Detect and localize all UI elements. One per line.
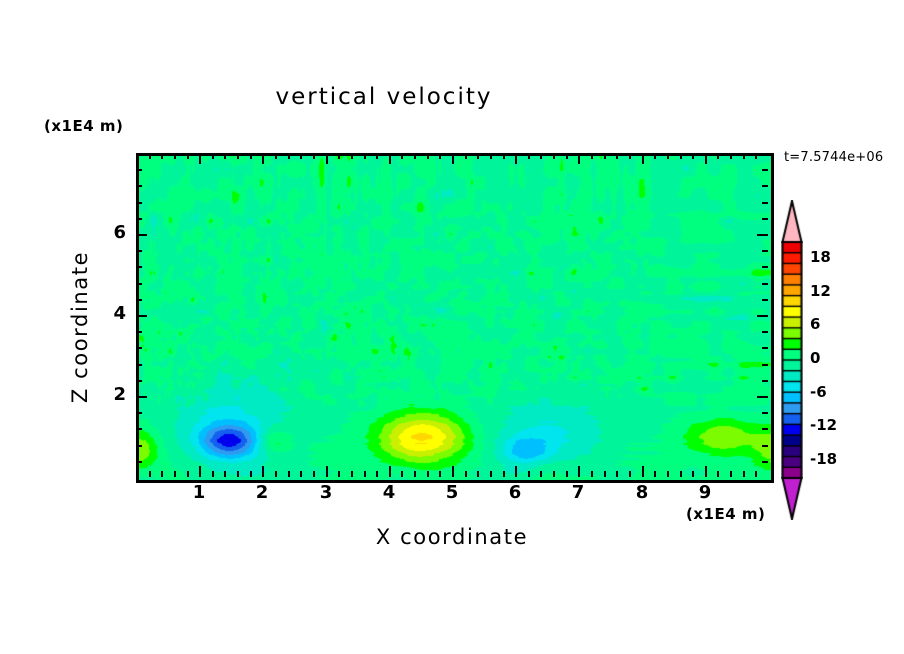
x-tick-minor xyxy=(174,471,176,477)
x-tick-minor xyxy=(174,153,176,159)
x-tick-minor xyxy=(490,471,492,477)
x-tick-minor xyxy=(743,471,745,477)
x-tick-minor xyxy=(364,153,366,159)
x-tick-minor xyxy=(313,471,315,477)
x-tick-minor xyxy=(465,153,467,159)
x-tick-minor xyxy=(414,471,416,477)
x-tick-minor xyxy=(288,153,290,159)
x-tick-minor xyxy=(717,471,719,477)
x-tick-minor xyxy=(755,153,757,159)
x-tick-label: 3 xyxy=(311,482,341,503)
x-tick-major xyxy=(705,466,707,477)
x-tick-minor xyxy=(591,471,593,477)
colorbar-tick-label: 12 xyxy=(810,282,831,300)
x-tick-major xyxy=(515,153,517,164)
x-tick-minor xyxy=(364,471,366,477)
x-tick-minor xyxy=(629,471,631,477)
x-tick-minor xyxy=(351,471,353,477)
y-tick-minor xyxy=(762,266,768,268)
y-tick-minor xyxy=(762,380,768,382)
x-tick-minor xyxy=(755,471,757,477)
x-tick-major xyxy=(452,153,454,164)
x-tick-minor xyxy=(414,153,416,159)
x-tick-minor xyxy=(477,471,479,477)
x-tick-minor xyxy=(692,471,694,477)
x-tick-minor xyxy=(604,153,606,159)
x-tick-minor xyxy=(149,471,151,477)
y-tick-minor xyxy=(762,412,768,414)
x-tick-major xyxy=(578,153,580,164)
x-tick-minor xyxy=(401,153,403,159)
x-tick-minor xyxy=(540,153,542,159)
y-tick-minor xyxy=(762,283,768,285)
x-tick-minor xyxy=(654,471,656,477)
x-tick-minor xyxy=(667,153,669,159)
x-tick-major xyxy=(452,466,454,477)
y-tick-minor xyxy=(762,185,768,187)
x-tick-minor xyxy=(604,471,606,477)
x-tick-minor xyxy=(338,471,340,477)
colorbar-gradient xyxy=(781,200,803,520)
y-tick-minor xyxy=(136,266,142,268)
x-tick-minor xyxy=(465,471,467,477)
x-tick-major xyxy=(578,466,580,477)
y-tick-minor xyxy=(762,299,768,301)
x-tick-minor xyxy=(528,153,530,159)
x-tick-minor xyxy=(224,471,226,477)
y-tick-minor xyxy=(762,169,768,171)
x-tick-minor xyxy=(300,153,302,159)
x-tick-minor xyxy=(376,471,378,477)
x-tick-minor xyxy=(288,471,290,477)
x-tick-minor xyxy=(566,153,568,159)
colorbar-tick-label: -6 xyxy=(810,383,827,401)
y-tick-minor xyxy=(136,218,142,220)
y-tick-minor xyxy=(136,185,142,187)
page-title: vertical velocity xyxy=(0,84,768,110)
y-tick-minor xyxy=(136,202,142,204)
x-tick-label: 5 xyxy=(437,482,467,503)
y-tick-minor xyxy=(136,331,142,333)
contour-plot-area xyxy=(136,153,774,483)
x-tick-minor xyxy=(275,471,277,477)
y-tick-minor xyxy=(136,169,142,171)
x-tick-minor xyxy=(212,153,214,159)
y-tick-minor xyxy=(136,380,142,382)
x-tick-minor xyxy=(427,153,429,159)
x-tick-minor xyxy=(730,471,732,477)
x-tick-minor xyxy=(528,471,530,477)
y-tick-minor xyxy=(762,445,768,447)
x-tick-major xyxy=(389,153,391,164)
figure-canvas: vertical velocity (x1E4 m) (x1E4 m) t=7.… xyxy=(0,0,904,654)
x-tick-minor xyxy=(591,153,593,159)
x-tick-major xyxy=(515,466,517,477)
x-tick-major xyxy=(642,466,644,477)
y-tick-major xyxy=(757,315,768,317)
x-tick-major xyxy=(326,466,328,477)
colorbar-tick-label: 18 xyxy=(810,248,831,266)
x-tick-minor xyxy=(250,471,252,477)
x-tick-major xyxy=(326,153,328,164)
x-tick-minor xyxy=(553,153,555,159)
x-tick-minor xyxy=(149,153,151,159)
y-tick-minor xyxy=(136,461,142,463)
y-tick-minor xyxy=(762,218,768,220)
x-tick-major xyxy=(642,153,644,164)
y-tick-minor xyxy=(136,347,142,349)
x-tick-minor xyxy=(616,471,618,477)
x-tick-minor xyxy=(212,471,214,477)
x-tick-label: 1 xyxy=(184,482,214,503)
x-tick-minor xyxy=(237,153,239,159)
x-tick-minor xyxy=(187,471,189,477)
y-tick-minor xyxy=(136,283,142,285)
y-tick-minor xyxy=(762,202,768,204)
x-tick-minor xyxy=(161,153,163,159)
x-tick-minor xyxy=(566,471,568,477)
y-axis-title: Z coordinate xyxy=(68,207,92,447)
y-tick-minor xyxy=(762,331,768,333)
y-tick-minor xyxy=(762,461,768,463)
x-tick-minor xyxy=(427,471,429,477)
x-tick-major xyxy=(199,153,201,164)
x-tick-minor xyxy=(439,153,441,159)
colorbar-tick-label: 0 xyxy=(810,349,820,367)
y-tick-label: 6 xyxy=(96,222,126,243)
x-tick-minor xyxy=(540,471,542,477)
x-tick-minor xyxy=(439,471,441,477)
x-tick-minor xyxy=(667,471,669,477)
x-tick-minor xyxy=(629,153,631,159)
x-tick-minor xyxy=(161,471,163,477)
timestamp-annotation: t=7.5744e+06 xyxy=(784,150,883,165)
y-tick-minor xyxy=(762,364,768,366)
x-tick-minor xyxy=(187,153,189,159)
x-tick-minor xyxy=(730,153,732,159)
y-tick-major xyxy=(136,396,147,398)
x-tick-major xyxy=(262,466,264,477)
y-tick-minor xyxy=(136,299,142,301)
x-tick-minor xyxy=(401,471,403,477)
x-tick-major xyxy=(389,466,391,477)
y-tick-minor xyxy=(136,412,142,414)
x-tick-label: 4 xyxy=(374,482,404,503)
x-tick-major xyxy=(705,153,707,164)
x-tick-minor xyxy=(680,153,682,159)
x-tick-label: 2 xyxy=(247,482,277,503)
y-tick-minor xyxy=(136,364,142,366)
x-tick-minor xyxy=(338,153,340,159)
x-tick-minor xyxy=(503,153,505,159)
x-tick-minor xyxy=(224,153,226,159)
y-tick-minor xyxy=(762,250,768,252)
x-tick-label: 7 xyxy=(563,482,593,503)
colorbar-tick-label: 6 xyxy=(810,315,820,333)
y-tick-minor xyxy=(136,250,142,252)
x-tick-minor xyxy=(250,153,252,159)
x-tick-minor xyxy=(300,471,302,477)
x-tick-label: 9 xyxy=(690,482,720,503)
x-tick-label: 6 xyxy=(500,482,530,503)
x-tick-major xyxy=(199,466,201,477)
x-tick-minor xyxy=(743,153,745,159)
y-tick-minor xyxy=(762,428,768,430)
x-tick-major xyxy=(262,153,264,164)
x-tick-label: 8 xyxy=(627,482,657,503)
x-axis-units-label: (x1E4 m) xyxy=(686,505,765,523)
x-tick-minor xyxy=(616,153,618,159)
y-tick-major xyxy=(136,315,147,317)
y-tick-minor xyxy=(762,347,768,349)
x-tick-minor xyxy=(313,153,315,159)
x-tick-minor xyxy=(680,471,682,477)
scalar-field-heatmap xyxy=(139,156,771,480)
x-tick-minor xyxy=(717,153,719,159)
x-tick-minor xyxy=(490,153,492,159)
y-tick-minor xyxy=(136,445,142,447)
colorbar-tick-label: -18 xyxy=(810,450,837,468)
x-tick-minor xyxy=(692,153,694,159)
y-tick-major xyxy=(757,396,768,398)
y-tick-label: 4 xyxy=(96,303,126,324)
x-tick-minor xyxy=(351,153,353,159)
x-tick-minor xyxy=(275,153,277,159)
y-tick-major xyxy=(136,234,147,236)
x-axis-title: X coordinate xyxy=(136,525,768,549)
x-tick-minor xyxy=(553,471,555,477)
y-tick-minor xyxy=(136,428,142,430)
x-tick-minor xyxy=(503,471,505,477)
x-tick-minor xyxy=(477,153,479,159)
colorbar-tick-label: -12 xyxy=(810,416,837,434)
x-tick-minor xyxy=(654,153,656,159)
colorbar xyxy=(781,200,803,520)
y-tick-major xyxy=(757,234,768,236)
y-tick-label: 2 xyxy=(96,384,126,405)
y-axis-units-label: (x1E4 m) xyxy=(44,117,123,135)
x-tick-minor xyxy=(237,471,239,477)
x-tick-minor xyxy=(376,153,378,159)
